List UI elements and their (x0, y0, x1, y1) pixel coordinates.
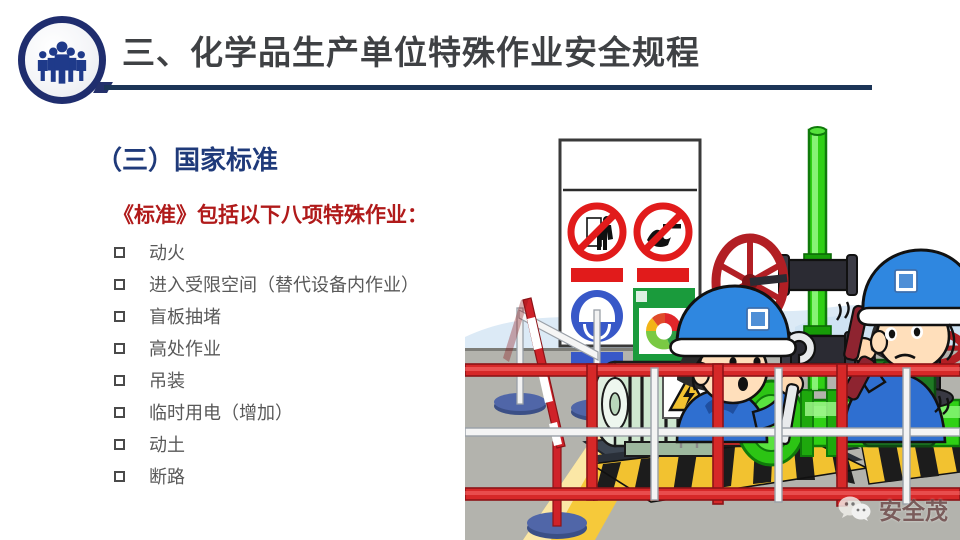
list-item: 动火 (114, 236, 514, 268)
square-bullet-icon (114, 279, 125, 290)
square-bullet-icon (114, 407, 125, 418)
list-item: 高处作业 (114, 332, 514, 364)
list-item: 动土 (114, 428, 514, 460)
list-item-label: 动火 (149, 239, 185, 265)
no-smoking-prohibition-icon (637, 206, 689, 258)
list-item: 断路 (114, 460, 514, 492)
square-bullet-icon (114, 439, 125, 450)
list-item-label: 进入受限空间（替代设备内作业） (149, 271, 419, 297)
header-divider (104, 85, 872, 90)
square-bullet-icon (114, 471, 125, 482)
square-bullet-icon (114, 247, 125, 258)
square-bullet-icon (114, 375, 125, 386)
section-subtitle: 《标准》包括以下八项特殊作业： (113, 199, 428, 229)
list-item-label: 动土 (149, 431, 185, 457)
list-item: 盲板抽堵 (114, 300, 514, 332)
list-item-label: 吊装 (149, 367, 185, 393)
safety-illustration (465, 112, 960, 540)
list-item: 临时用电（增加） (114, 396, 514, 428)
no-entry-prohibition-icon (571, 206, 623, 258)
list-item: 吊装 (114, 364, 514, 396)
square-bullet-icon (114, 343, 125, 354)
special-operations-list: 动火 进入受限空间（替代设备内作业） 盲板抽堵 高处作业 吊装 临时用电（增加）… (114, 236, 514, 492)
slide-header: 三、化学品生产单位特殊作业安全规程 (0, 0, 960, 100)
page-title: 三、化学品生产单位特殊作业安全规程 (122, 26, 700, 74)
list-item-label: 临时用电（增加） (149, 399, 293, 425)
slide-canvas: 三、化学品生产单位特殊作业安全规程 （三）国家标准 《标准》包括以下八项特殊作业… (0, 0, 960, 540)
list-item-label: 断路 (149, 463, 185, 489)
list-item-label: 高处作业 (149, 335, 221, 361)
section-title: （三）国家标准 (96, 140, 278, 177)
list-item-label: 盲板抽堵 (149, 303, 221, 329)
square-bullet-icon (114, 311, 125, 322)
list-item: 进入受限空间（替代设备内作业） (114, 268, 514, 300)
